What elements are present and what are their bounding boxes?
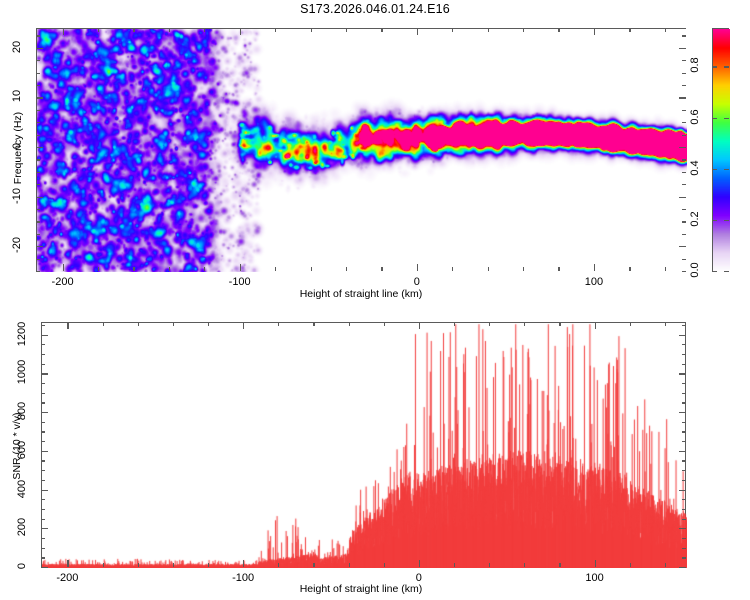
axis-tick: [41, 402, 45, 403]
axis-tick: [36, 97, 43, 98]
axis-tick: [133, 267, 134, 271]
axis-tick: [275, 267, 276, 271]
axis-tick: [204, 28, 205, 32]
axis-tick: [682, 480, 686, 481]
axis-tick: [524, 563, 525, 567]
axis-tick: [98, 28, 99, 32]
spectrogram-canvas: [37, 29, 687, 272]
axis-tick: [454, 322, 455, 326]
axis-tick: [311, 28, 312, 32]
axis-tick: [665, 322, 666, 326]
axis-tick: [103, 563, 104, 567]
colorbar-tick-label: 0.2: [689, 206, 701, 232]
axis-tick: [712, 220, 717, 221]
axis-tick: [682, 73, 686, 74]
axis-tick: [36, 184, 40, 185]
axis-tick-label: 100: [564, 276, 624, 288]
axis-tick: [41, 470, 45, 471]
colorbar-tick-label: 0.4: [689, 155, 701, 181]
axis-tick: [679, 197, 686, 198]
axis-tick: [595, 560, 596, 567]
axis-tick: [41, 325, 45, 326]
axis-tick: [682, 470, 686, 471]
axis-tick: [138, 322, 139, 326]
axis-tick: [682, 422, 686, 423]
axis-tick: [679, 528, 686, 529]
axis-tick: [682, 509, 686, 510]
axis-tick: [41, 557, 45, 558]
axis-tick-label: -20: [11, 233, 23, 257]
axis-tick: [381, 267, 382, 271]
spectrogram-panel: -200-1000100-20-1001020 Frequency (Hz) H…: [0, 0, 750, 300]
axis-tick: [594, 264, 595, 271]
axis-tick: [452, 267, 453, 271]
axis-tick: [488, 267, 489, 271]
axis-tick-label: -200: [33, 276, 93, 288]
axis-tick: [724, 118, 729, 119]
axis-tick: [679, 451, 686, 452]
axis-tick: [679, 567, 686, 568]
axis-tick: [36, 147, 43, 148]
axis-tick: [665, 28, 666, 32]
axis-tick-label: 100: [565, 572, 625, 584]
axis-tick: [679, 48, 686, 49]
snr-trace-canvas: [42, 323, 687, 568]
axis-tick: [169, 28, 170, 32]
axis-tick: [682, 221, 686, 222]
axis-tick: [138, 563, 139, 567]
axis-tick: [41, 344, 45, 345]
axis-tick: [36, 85, 40, 86]
axis-tick: [67, 560, 68, 567]
axis-tick: [173, 563, 174, 567]
axis-tick: [41, 431, 45, 432]
axis-tick: [41, 548, 45, 549]
axis-tick: [488, 28, 489, 32]
axis-tick: [452, 28, 453, 32]
axis-tick: [41, 460, 45, 461]
axis-tick: [36, 73, 40, 74]
axis-tick: [36, 246, 43, 247]
axis-tick: [679, 97, 686, 98]
axis-tick: [41, 422, 45, 423]
axis-tick: [679, 246, 686, 247]
axis-tick: [594, 28, 595, 35]
axis-tick: [275, 28, 276, 32]
axis-tick: [682, 519, 686, 520]
axis-tick: [682, 209, 686, 210]
snr-panel: -200-1000100020040060080010001200 SNR (1…: [0, 300, 750, 600]
axis-tick: [682, 85, 686, 86]
axis-tick: [724, 220, 729, 221]
axis-tick: [243, 560, 244, 567]
axis-tick: [98, 267, 99, 271]
axis-tick: [724, 271, 729, 272]
axis-tick: [682, 184, 686, 185]
axis-tick: [665, 267, 666, 271]
axis-tick: [712, 169, 717, 170]
axis-tick: [41, 509, 45, 510]
axis-tick: [629, 267, 630, 271]
axis-tick: [679, 147, 686, 148]
axis-tick: [41, 538, 45, 539]
axis-tick: [349, 322, 350, 326]
axis-tick: [41, 528, 48, 529]
axis-tick: [41, 490, 48, 491]
colorbar-tick-label: 0.8: [689, 52, 701, 78]
axis-tick: [381, 28, 382, 32]
axis-tick-label: 200: [16, 510, 28, 544]
axis-tick: [36, 221, 40, 222]
axis-tick: [682, 172, 686, 173]
figure-root: S173.2026.046.01.24.E16 -200-1000100-20-…: [0, 0, 750, 600]
axis-tick: [682, 110, 686, 111]
axis-tick: [313, 563, 314, 567]
axis-tick: [41, 499, 45, 500]
axis-tick: [36, 35, 40, 36]
axis-tick: [712, 66, 717, 67]
axis-tick: [559, 563, 560, 567]
axis-tick: [682, 383, 686, 384]
axis-tick: [384, 322, 385, 326]
axis-tick: [665, 563, 666, 567]
axis-tick: [41, 441, 45, 442]
axis-tick: [63, 28, 64, 35]
colorbar-tick-label: 0.6: [689, 104, 701, 130]
spectrogram-y-axis-label: Frequency (Hz): [12, 98, 24, 198]
axis-tick: [36, 60, 40, 61]
axis-tick: [36, 122, 40, 123]
axis-tick: [346, 28, 347, 32]
axis-tick-label: -100: [210, 276, 270, 288]
axis-tick: [384, 563, 385, 567]
axis-tick: [133, 28, 134, 32]
axis-tick: [41, 354, 45, 355]
axis-tick: [313, 322, 314, 326]
axis-tick: [41, 373, 48, 374]
axis-tick-label: 1000: [16, 355, 28, 389]
axis-tick: [682, 60, 686, 61]
axis-tick: [559, 322, 560, 326]
axis-tick: [682, 259, 686, 260]
axis-tick: [682, 35, 686, 36]
axis-tick: [208, 322, 209, 326]
axis-tick: [679, 490, 686, 491]
axis-tick: [682, 234, 686, 235]
snr-y-axis-label: SNR (10 * v/v): [11, 386, 23, 506]
axis-tick: [630, 322, 631, 326]
axis-tick-label: 0: [387, 276, 447, 288]
axis-tick: [67, 322, 68, 329]
axis-tick: [419, 560, 420, 567]
axis-tick: [417, 28, 418, 35]
axis-tick: [724, 169, 729, 170]
axis-tick: [240, 264, 241, 271]
axis-tick: [41, 412, 48, 413]
axis-tick: [682, 271, 686, 272]
axis-tick: [682, 393, 686, 394]
axis-tick: [682, 557, 686, 558]
axis-tick: [36, 135, 40, 136]
axis-tick: [103, 322, 104, 326]
axis-tick: [311, 267, 312, 271]
axis-tick: [682, 402, 686, 403]
axis-tick: [36, 259, 40, 260]
axis-tick: [36, 159, 40, 160]
axis-tick: [41, 364, 45, 365]
axis-tick: [204, 267, 205, 271]
axis-tick: [489, 322, 490, 326]
axis-tick-label: 20: [11, 35, 23, 59]
colorbar-frame: [712, 28, 729, 271]
axis-tick: [278, 322, 279, 326]
axis-tick: [41, 567, 48, 568]
axis-tick: [454, 563, 455, 567]
axis-tick: [41, 480, 45, 481]
axis-tick: [63, 264, 64, 271]
axis-tick: [682, 364, 686, 365]
axis-tick: [36, 110, 40, 111]
axis-tick-label: 1200: [16, 317, 28, 351]
axis-tick: [679, 412, 686, 413]
axis-tick: [41, 335, 48, 336]
axis-tick: [419, 322, 420, 329]
axis-tick: [679, 335, 686, 336]
axis-tick: [173, 322, 174, 326]
axis-tick: [558, 28, 559, 32]
axis-tick: [36, 197, 43, 198]
axis-tick: [349, 563, 350, 567]
axis-tick: [630, 563, 631, 567]
axis-tick: [41, 519, 45, 520]
axis-tick: [36, 48, 43, 49]
axis-tick: [712, 118, 717, 119]
axis-tick: [36, 271, 40, 272]
axis-tick: [36, 172, 40, 173]
spectrogram-x-axis-label: Height of straight line (km): [236, 288, 486, 300]
axis-tick-label: 0: [16, 549, 28, 583]
axis-tick: [346, 267, 347, 271]
axis-tick: [36, 234, 40, 235]
axis-tick: [682, 431, 686, 432]
axis-tick: [41, 451, 48, 452]
axis-tick: [682, 354, 686, 355]
snr-frame: [41, 322, 686, 567]
axis-tick: [682, 441, 686, 442]
axis-tick-label: -200: [37, 572, 97, 584]
axis-tick: [240, 28, 241, 35]
axis-tick: [41, 383, 45, 384]
axis-tick: [243, 322, 244, 329]
axis-tick: [489, 563, 490, 567]
axis-tick: [417, 264, 418, 271]
axis-tick: [523, 28, 524, 32]
axis-tick: [558, 267, 559, 271]
axis-tick: [682, 159, 686, 160]
axis-tick: [595, 322, 596, 329]
spectrogram-frame: [36, 28, 686, 271]
axis-tick: [278, 563, 279, 567]
axis-tick: [682, 548, 686, 549]
snr-x-axis-label: Height of straight line (km): [236, 583, 486, 595]
axis-tick: [712, 271, 717, 272]
axis-tick: [523, 267, 524, 271]
axis-tick: [724, 66, 729, 67]
axis-tick: [679, 373, 686, 374]
axis-tick: [682, 538, 686, 539]
axis-tick: [36, 209, 40, 210]
axis-tick: [682, 344, 686, 345]
colorbar-tick-label: 0.0: [689, 257, 701, 283]
axis-tick: [208, 563, 209, 567]
axis-tick: [682, 122, 686, 123]
axis-tick: [41, 393, 45, 394]
axis-tick: [524, 322, 525, 326]
axis-tick: [682, 499, 686, 500]
axis-tick: [682, 135, 686, 136]
axis-tick: [169, 267, 170, 271]
axis-tick: [682, 325, 686, 326]
axis-tick: [629, 28, 630, 32]
axis-tick: [682, 460, 686, 461]
